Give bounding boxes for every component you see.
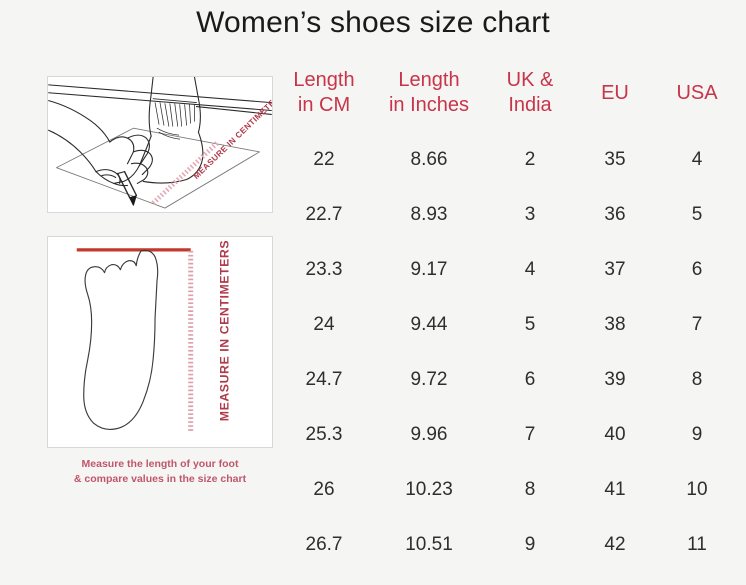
cell-uk-india: 3 [484, 187, 576, 242]
cell-length-cm: 26 [274, 462, 374, 517]
column-header-usa: USA [654, 68, 740, 132]
cell-length-cm: 25.3 [274, 407, 374, 462]
table-row: 26.710.5194211 [274, 517, 740, 572]
cell-usa: 4 [654, 132, 740, 187]
cell-uk-india: 7 [484, 407, 576, 462]
table-row: 249.445387 [274, 297, 740, 352]
figure-foot-outline: MEASURE IN CENTIMETERS [47, 236, 273, 448]
table-row: 228.662354 [274, 132, 740, 187]
measure-hand-drawing: MEASURE IN CENTIMETERS [48, 77, 272, 212]
page-title: Women’s shoes size chart [0, 6, 746, 40]
column-header-eu: EU [576, 68, 654, 132]
measure-caption: Measure the length of your foot & compar… [47, 457, 273, 487]
cell-length-cm: 23.3 [274, 242, 374, 297]
cell-eu: 36 [576, 187, 654, 242]
figure-measure-hand: MEASURE IN CENTIMETERS [47, 76, 273, 213]
table-row: 25.39.967409 [274, 407, 740, 462]
ruler-label-foot: MEASURE IN CENTIMETERS [217, 240, 231, 421]
cell-eu: 37 [576, 242, 654, 297]
cell-length-inches: 8.66 [374, 132, 484, 187]
cell-eu: 35 [576, 132, 654, 187]
cell-length-cm: 22.7 [274, 187, 374, 242]
cell-usa: 9 [654, 407, 740, 462]
cell-uk-india: 9 [484, 517, 576, 572]
cell-eu: 39 [576, 352, 654, 407]
size-chart-body: 228.66235422.78.93336523.39.174376249.44… [274, 132, 740, 572]
cell-length-inches: 8.93 [374, 187, 484, 242]
cell-uk-india: 6 [484, 352, 576, 407]
measure-caption-line-2: & compare values in the size chart [47, 472, 273, 487]
cell-uk-india: 4 [484, 242, 576, 297]
table-row: 23.39.174376 [274, 242, 740, 297]
cell-length-inches: 9.17 [374, 242, 484, 297]
cell-usa: 11 [654, 517, 740, 572]
cell-length-inches: 9.44 [374, 297, 484, 352]
column-header-length-inches: Length in Inches [374, 68, 484, 132]
cell-length-cm: 26.7 [274, 517, 374, 572]
table-row: 2610.2384110 [274, 462, 740, 517]
table-row: 24.79.726398 [274, 352, 740, 407]
cell-length-cm: 24.7 [274, 352, 374, 407]
cell-usa: 10 [654, 462, 740, 517]
ruler-label-hand: MEASURE IN CENTIMETERS [192, 90, 272, 181]
size-chart-table: Length in CM Length in Inches UK & India… [274, 68, 740, 572]
cell-length-cm: 24 [274, 297, 374, 352]
illustration-column: MEASURE IN CENTIMETERS MEASURE IN CENTIM… [47, 76, 273, 487]
cell-length-inches: 10.23 [374, 462, 484, 517]
ruler-strip [153, 142, 218, 203]
cell-uk-india: 5 [484, 297, 576, 352]
cell-uk-india: 8 [484, 462, 576, 517]
cell-usa: 8 [654, 352, 740, 407]
cell-eu: 42 [576, 517, 654, 572]
cell-eu: 40 [576, 407, 654, 462]
cell-eu: 41 [576, 462, 654, 517]
column-header-length-cm: Length in CM [274, 68, 374, 132]
cell-length-inches: 10.51 [374, 517, 484, 572]
cell-usa: 5 [654, 187, 740, 242]
cell-eu: 38 [576, 297, 654, 352]
foot-outline-drawing: MEASURE IN CENTIMETERS [48, 237, 272, 447]
table-header-row: Length in CM Length in Inches UK & India… [274, 68, 740, 132]
cell-usa: 7 [654, 297, 740, 352]
cell-usa: 6 [654, 242, 740, 297]
measure-caption-line-1: Measure the length of your foot [47, 457, 273, 472]
cell-length-inches: 9.96 [374, 407, 484, 462]
cell-uk-india: 2 [484, 132, 576, 187]
cell-length-inches: 9.72 [374, 352, 484, 407]
table-row: 22.78.933365 [274, 187, 740, 242]
cell-length-cm: 22 [274, 132, 374, 187]
column-header-uk-india: UK & India [484, 68, 576, 132]
